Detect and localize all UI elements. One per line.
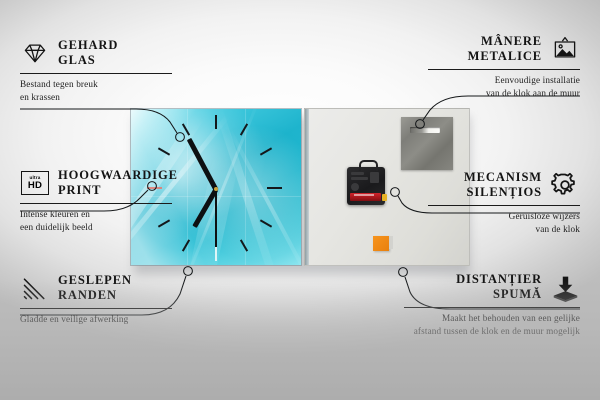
callout-header: GESLEPENRANDEN (20, 273, 172, 304)
mechanism-hanger-loop (359, 160, 378, 171)
callout-title: DISTANȚIERSPUMĂ (456, 272, 542, 303)
product-image (130, 108, 470, 268)
second-hand (215, 189, 216, 247)
callout-rule (404, 307, 580, 308)
hour-tick (215, 247, 217, 261)
foam-spacer-side (389, 236, 393, 249)
callout-header: DISTANȚIERSPUMĂ (404, 272, 580, 303)
gear-icon (550, 170, 580, 200)
picture-hanger-icon (550, 34, 580, 64)
callout-header: MÂNEREMETALICE (428, 34, 580, 65)
clock-center-pin (214, 187, 218, 191)
hour-tick (267, 187, 282, 189)
callout-header: MECANISMSILENȚIOS (428, 170, 580, 201)
callout-title: GESLEPENRANDEN (58, 273, 132, 304)
foam-spacer (373, 236, 389, 251)
arrow-into-pad-icon (550, 272, 580, 302)
callout-description: Bestand tegen breuken krassen (20, 78, 172, 104)
mechanism-dial (351, 183, 359, 191)
hd-label: HD (28, 181, 42, 191)
callout-manere-metalice[interactable]: MÂNEREMETALICE Eenvoudige installatievan… (428, 34, 580, 100)
callout-rule (20, 203, 172, 204)
glass-seam (245, 109, 246, 265)
callout-description: Gladde en veilige afwerking (20, 313, 172, 326)
mechanism-detail (351, 172, 364, 175)
metal-hanger-plate (401, 117, 453, 170)
callout-description: Eenvoudige installatievan de klok aan de… (428, 74, 580, 100)
callout-rule (428, 69, 580, 70)
callout-gehard-glas[interactable]: GEHARDGLAS Bestand tegen breuken krassen (20, 38, 172, 104)
ultra-hd-icon: ultra HD (20, 168, 50, 198)
glass-edge (305, 109, 309, 265)
callout-header: GEHARDGLAS (20, 38, 172, 69)
mechanism-detail (351, 177, 368, 180)
callout-geslepen-randen[interactable]: GESLEPENRANDEN Gladde en veilige afwerki… (20, 273, 172, 326)
callout-title: GEHARDGLAS (58, 38, 118, 69)
callout-rule (20, 308, 172, 309)
callout-title: MECANISMSILENȚIOS (464, 170, 542, 201)
callout-hoogwaardige-print[interactable]: ultra HD HOOGWAARDIGEPRINT Intense kleur… (20, 168, 172, 234)
hour-tick (215, 115, 217, 129)
battery (350, 193, 381, 201)
callout-header: ultra HD HOOGWAARDIGEPRINT (20, 168, 172, 199)
callout-rule (428, 205, 580, 206)
diagonal-lines-icon (20, 273, 50, 303)
battery-label (354, 194, 374, 196)
callout-distantier-spuma[interactable]: DISTANȚIERSPUMĂ Maakt het behouden van e… (404, 272, 580, 338)
callout-mecanism-silentios[interactable]: MECANISMSILENȚIOS Geruisloze wijzersvan … (428, 170, 580, 236)
clock-mechanism-box (347, 167, 385, 205)
callout-title: HOOGWAARDIGEPRINT (58, 168, 178, 199)
battery-positive-terminal (382, 194, 387, 201)
callout-description: Intense kleuren eneen duidelijk beeld (20, 208, 172, 234)
callout-description: Maakt het behouden van een gelijkeafstan… (404, 312, 580, 338)
mechanism-detail (370, 172, 379, 183)
callout-description: Geruisloze wijzersvan de klok (428, 210, 580, 236)
callout-title: MÂNEREMETALICE (468, 34, 542, 65)
diamond-icon (20, 38, 50, 68)
infographic-canvas: GEHARDGLAS Bestand tegen breuken krassen… (0, 0, 600, 400)
callout-rule (20, 73, 172, 74)
hanger-keyhole-slot (410, 127, 440, 133)
